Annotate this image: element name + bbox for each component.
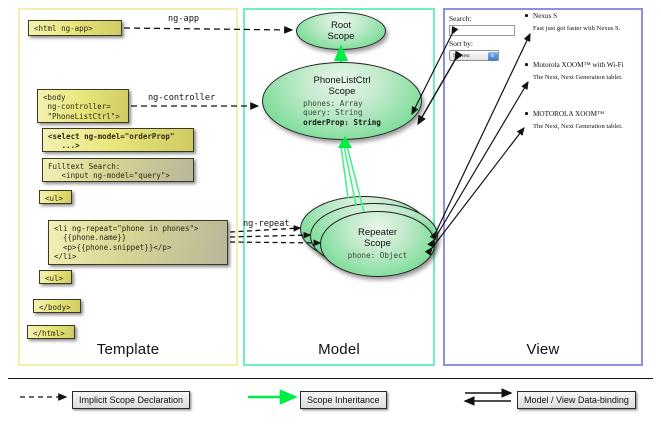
search-input[interactable] (449, 25, 515, 36)
legend-scope-inheritance: Scope Inheritance (300, 391, 387, 409)
select-orderprop-box: <select ng-model="orderProp" ...> (42, 128, 194, 152)
label-ng-controller: ng-controller (148, 93, 215, 103)
legend-data-binding: Model / View Data-binding (517, 391, 636, 409)
phonelistctrl-scope-props: phones: Array query: String orderProp: S… (303, 99, 381, 127)
sort-select[interactable]: Newest ⇕ (449, 50, 499, 61)
repeater-scope-props: phone: Object (348, 251, 407, 260)
label-ng-repeat: ng-repeat (243, 219, 290, 229)
prop-orderprop: orderProp: String (303, 118, 381, 127)
sort-label: Sort by: (449, 39, 473, 48)
list-item: Nexus S Fast just got faster with Nexus … (533, 12, 661, 32)
diagram-canvas: Template Model View <html ng-app> <body … (0, 0, 661, 425)
list-item: Motorola XOOM™ with Wi-Fi The Next, Next… (533, 61, 661, 81)
ul-close-box: <ul> (39, 270, 72, 284)
legend-divider (8, 378, 653, 379)
phone-snippet: The Next, Next Generation tablet. (533, 123, 661, 130)
view-panel: Search: Sort by: Newest ⇕ Nexus S Fast j… (449, 14, 639, 124)
prop-phone: phone: Object (348, 251, 407, 260)
bullet-icon (525, 112, 528, 115)
li-ngrepeat-box: <li ng-repeat="phone in phones"> {{phone… (48, 220, 228, 265)
sort-select-value: Newest (453, 53, 470, 59)
body-close-box: </body> (33, 299, 81, 313)
body-controller-box: <body ng-controller= "PhoneListCtrl"> (37, 89, 129, 123)
chevron-down-icon: ⇕ (488, 52, 498, 61)
legend-implicit-scope: Implicit Scope Declaration (72, 391, 190, 409)
phone-name: Motorola XOOM™ with Wi-Fi (533, 61, 661, 69)
ul-open-box: <ul> (39, 190, 72, 204)
phonelistctrl-scope: PhoneListCtrlScope phones: Array query: … (262, 62, 422, 140)
html-close-box: </html> (27, 325, 75, 339)
html-tag-box: <html ng-app> (28, 20, 122, 36)
phone-snippet: Fast just got faster with Nexus S. (533, 25, 661, 32)
column-label-template: Template (20, 341, 236, 358)
column-label-view: View (445, 341, 641, 358)
search-label: Search: (449, 14, 472, 23)
prop-phones: phones: Array (303, 99, 381, 108)
repeater-scope-title: RepeaterScope (358, 227, 397, 249)
label-ng-app: ng-app (168, 14, 199, 24)
root-scope-title: RootScope (328, 20, 355, 42)
phone-name: MOTOROLA XOOM™ (533, 110, 661, 118)
fulltext-search-box: Fulltext Search: <input ng-model="query"… (42, 158, 194, 182)
phone-name: Nexus S (533, 12, 661, 20)
root-scope: RootScope (296, 12, 386, 50)
repeater-scope: RepeaterScope phone: Object (320, 211, 435, 277)
bullet-icon (525, 63, 528, 66)
prop-query: query: String (303, 108, 381, 117)
list-item: MOTOROLA XOOM™ The Next, Next Generation… (533, 110, 661, 130)
column-label-model: Model (245, 341, 433, 358)
bullet-icon (525, 14, 528, 17)
phone-snippet: The Next, Next Generation tablet. (533, 74, 661, 81)
phonelistctrl-scope-title: PhoneListCtrlScope (313, 75, 370, 97)
